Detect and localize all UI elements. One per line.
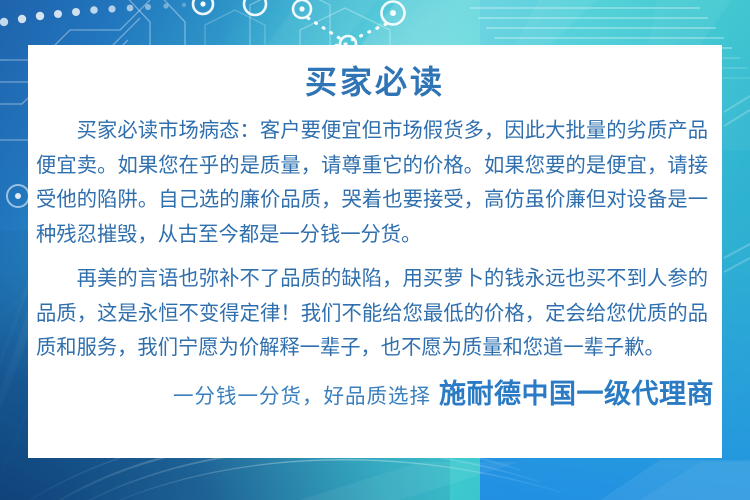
tagline: 一分钱一分货，好品质选择施耐德中国一级代理商 xyxy=(28,380,722,410)
poster-root: 买家必读 买家必读市场病态：客户要便宜但市场假货多，因此大批量的劣质产品便宜卖。… xyxy=(0,0,750,500)
decor-ring-node-left xyxy=(7,185,29,207)
paragraph-2: 再美的言语也弥补不了品质的缺陷，用买萝卜的钱永远也买不到人参的品质，这是永恒不变… xyxy=(36,262,708,366)
decor-dot-row xyxy=(0,3,186,26)
page-title: 买家必读 xyxy=(28,45,722,98)
tagline-lead-text: 一分钱一分货，好品质选择 xyxy=(173,386,431,408)
decor-bottom-right-sheen xyxy=(300,460,750,500)
content-card: 买家必读 买家必读市场病态：客户要便宜但市场假货多，因此大批量的劣质产品便宜卖。… xyxy=(28,45,722,458)
paragraph-1: 买家必读市场病态：客户要便宜但市场假货多，因此大批量的劣质产品便宜卖。如果您在乎… xyxy=(36,114,708,252)
body-text-block: 买家必读市场病态：客户要便宜但市场假货多，因此大批量的劣质产品便宜卖。如果您在乎… xyxy=(28,114,722,366)
tagline-brand-text: 施耐德中国一级代理商 xyxy=(439,379,714,409)
